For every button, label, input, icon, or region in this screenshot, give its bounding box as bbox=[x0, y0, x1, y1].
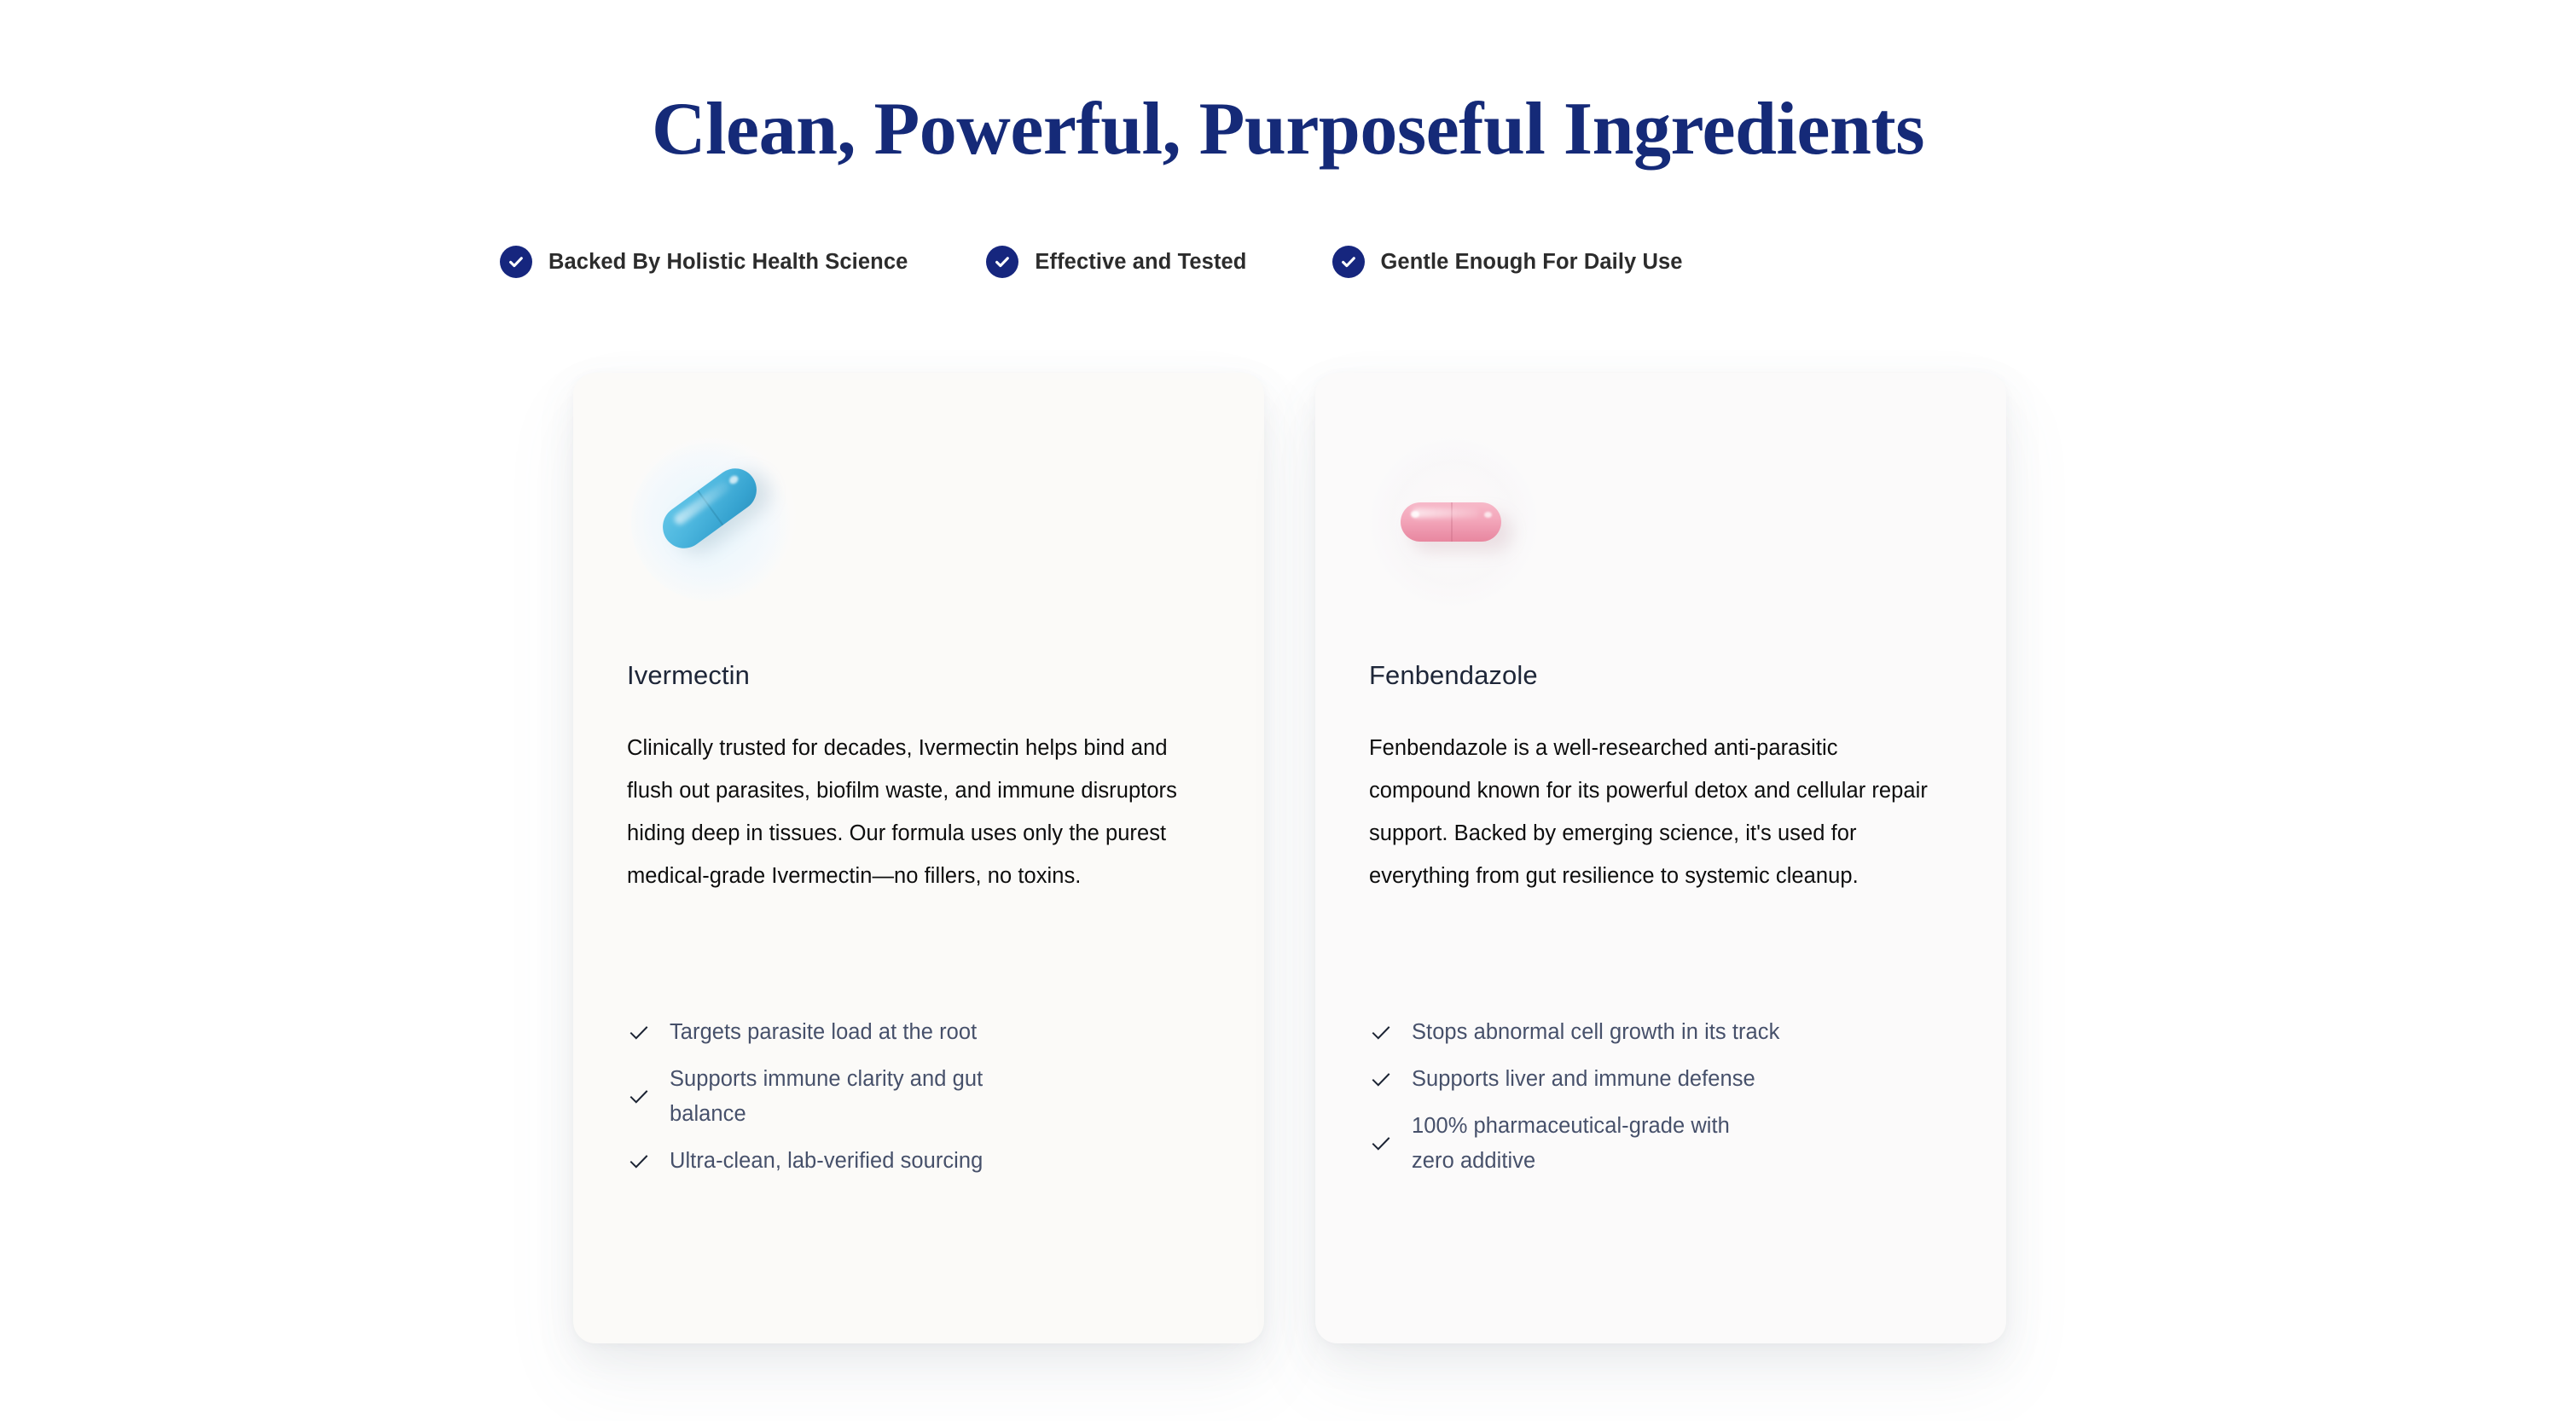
trust-badge-label: Backed By Holistic Health Science bbox=[548, 250, 908, 275]
card-description: Clinically trusted for decades, Ivermect… bbox=[627, 727, 1214, 897]
capsule-highlight bbox=[1413, 508, 1479, 518]
trust-badge-label: Effective and Tested bbox=[1035, 250, 1246, 275]
capsule-specular-dot bbox=[1411, 511, 1419, 518]
list-item: Stops abnormal cell growth in its track bbox=[1369, 1015, 1966, 1050]
list-item: Supports immune clarity and gut balance bbox=[627, 1062, 1224, 1132]
page-title: Clean, Powerful, Purposeful Ingredients bbox=[0, 90, 2576, 169]
feature-list: Stops abnormal cell growth in its track … bbox=[1369, 1015, 1966, 1179]
capsule-specular-dot-2 bbox=[1484, 512, 1492, 518]
list-item: Supports liver and immune defense bbox=[1369, 1062, 1966, 1097]
trust-badge-2: Effective and Tested bbox=[986, 241, 1246, 282]
check-icon bbox=[1369, 1068, 1393, 1092]
check-circle-icon bbox=[500, 246, 532, 278]
check-icon bbox=[627, 1085, 651, 1109]
capsule-shape bbox=[1401, 502, 1501, 542]
check-circle-icon bbox=[986, 246, 1018, 278]
trust-badge-label: Gentle Enough For Daily Use bbox=[1381, 250, 1683, 275]
feature-label: Supports immune clarity and gut balance bbox=[670, 1062, 1028, 1132]
check-icon bbox=[627, 1021, 651, 1045]
check-icon bbox=[1369, 1132, 1393, 1156]
ingredient-card-fenbendazole[interactable]: Fenbendazole Fenbendazole is a well-rese… bbox=[1315, 373, 2006, 1343]
feature-list: Targets parasite load at the root Suppor… bbox=[627, 1015, 1224, 1179]
check-circle-icon bbox=[1332, 246, 1365, 278]
feature-label: Stops abnormal cell growth in its track bbox=[1412, 1015, 1779, 1050]
ingredient-card-ivermectin[interactable]: Ivermectin Clinically trusted for decade… bbox=[573, 373, 1264, 1343]
feature-label: 100% pharmaceutical-grade with zero addi… bbox=[1412, 1109, 1761, 1179]
pink-capsule-pill-icon bbox=[1368, 438, 1564, 608]
feature-label: Supports liver and immune defense bbox=[1412, 1062, 1755, 1097]
blue-capsule-pill-icon bbox=[626, 438, 822, 608]
card-title: Fenbendazole bbox=[1369, 660, 1538, 691]
list-item: 100% pharmaceutical-grade with zero addi… bbox=[1369, 1109, 1966, 1179]
card-title: Ivermectin bbox=[627, 660, 750, 691]
list-item: Targets parasite load at the root bbox=[627, 1015, 1224, 1050]
ingredients-section: Clean, Powerful, Purposeful Ingredients … bbox=[0, 0, 2576, 1421]
capsule-specular-dot bbox=[728, 473, 740, 485]
list-item: Ultra-clean, lab-verified sourcing bbox=[627, 1144, 1224, 1179]
check-icon bbox=[1369, 1021, 1393, 1045]
check-icon bbox=[627, 1150, 651, 1174]
feature-label: Ultra-clean, lab-verified sourcing bbox=[670, 1144, 983, 1179]
trust-badge-row: Backed By Holistic Health Science Effect… bbox=[500, 241, 2086, 282]
trust-badge-3: Gentle Enough For Daily Use bbox=[1332, 241, 1683, 282]
feature-label: Targets parasite load at the root bbox=[670, 1015, 977, 1050]
card-description: Fenbendazole is a well-researched anti-p… bbox=[1369, 727, 1935, 897]
ingredient-card-grid: Ivermectin Clinically trusted for decade… bbox=[573, 373, 2006, 1343]
trust-badge-1: Backed By Holistic Health Science bbox=[500, 241, 908, 282]
